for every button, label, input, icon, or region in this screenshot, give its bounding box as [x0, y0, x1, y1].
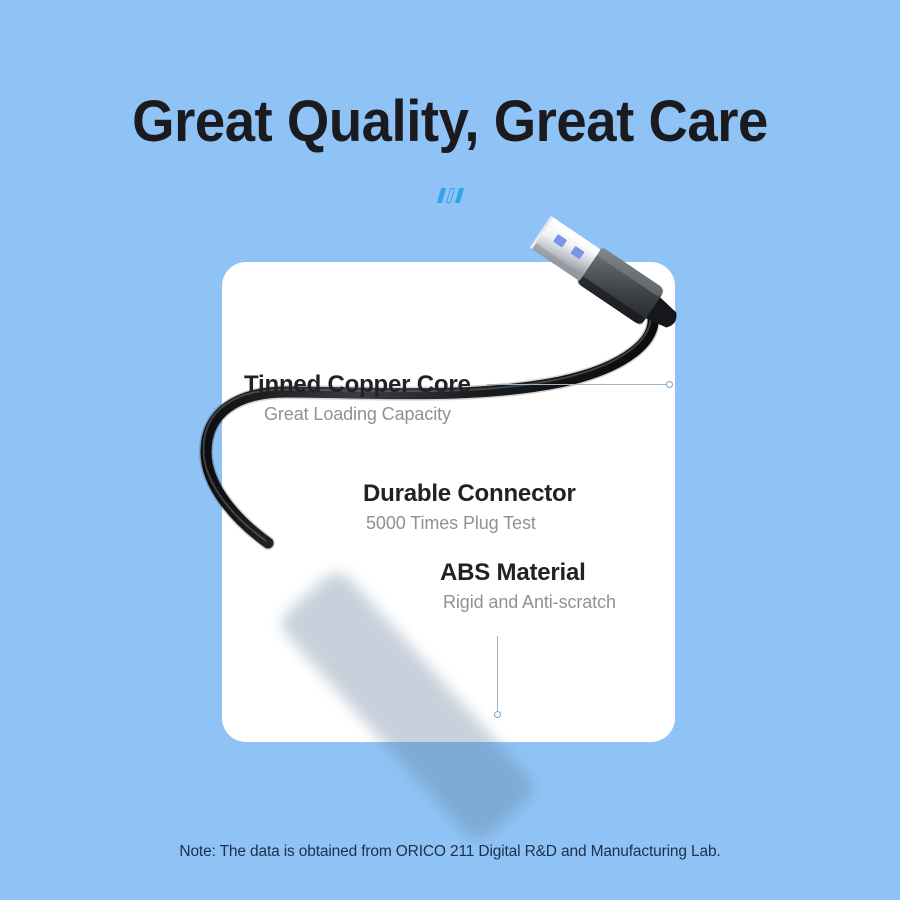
footer-note: Note: The data is obtained from ORICO 21…	[0, 843, 900, 861]
callout-title: Tinned Copper Core	[244, 372, 471, 398]
leader-line-tinned-copper-core	[487, 384, 669, 385]
divider-mark-2	[445, 188, 454, 203]
callout-title: ABS Material	[440, 560, 616, 586]
callout-subtitle: 5000 Times Plug Test	[366, 513, 576, 534]
callout-abs-material: ABS Material Rigid and Anti-scratch	[440, 560, 616, 613]
divider-mark-1	[436, 188, 445, 203]
usb3-contact-1	[553, 234, 567, 248]
triple-slash-divider	[0, 188, 900, 203]
callout-subtitle: Rigid and Anti-scratch	[443, 592, 616, 613]
callout-subtitle: Great Loading Capacity	[264, 404, 471, 425]
callout-title: Durable Connector	[363, 481, 576, 507]
callout-durable-connector: Durable Connector 5000 Times Plug Test	[363, 481, 576, 534]
divider-mark-3	[454, 188, 463, 203]
usb3-contact-2	[570, 246, 584, 260]
leader-dot-abs-material	[494, 711, 501, 718]
page-title: Great Quality, Great Care	[27, 88, 873, 155]
leader-line-abs-material	[497, 636, 498, 714]
leader-dot-tinned-copper-core	[666, 381, 673, 388]
usb-port-3	[469, 762, 525, 819]
callout-tinned-copper-core: Tinned Copper Core Great Loading Capacit…	[244, 372, 471, 425]
